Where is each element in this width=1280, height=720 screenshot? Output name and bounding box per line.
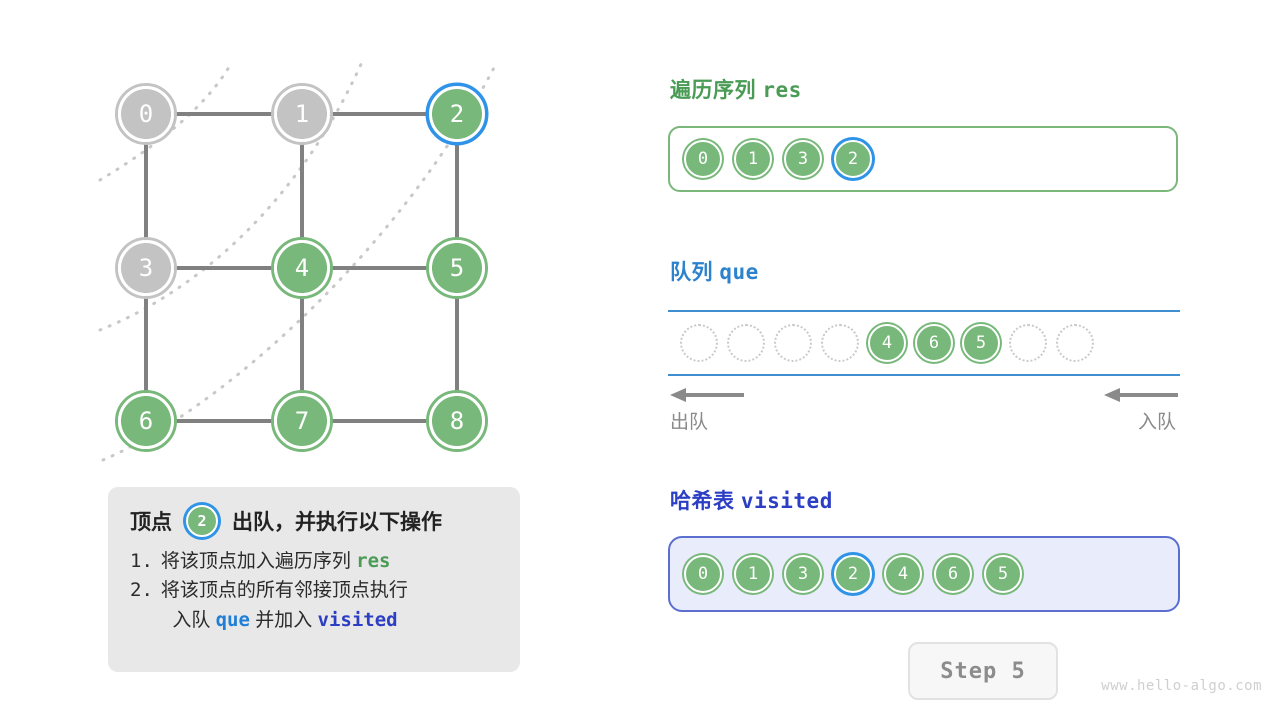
caption-step-text: 将该顶点加入遍历序列	[161, 551, 356, 572]
caption-step-number: 1.	[130, 550, 153, 572]
caption-head-suffix: 出队，并执行以下操作	[232, 506, 442, 536]
graph-node-7[interactable]: 7	[273, 392, 332, 451]
visited-title-cn: 哈希表	[670, 490, 735, 513]
queue-empty-slot	[680, 324, 718, 362]
visited-title-code: visited	[741, 489, 833, 513]
visited-item: 2	[834, 555, 872, 593]
dequeue-label: 出队	[670, 407, 708, 434]
queue-empty-slot	[821, 324, 859, 362]
res-title: 遍历序列 res	[670, 74, 802, 104]
caption-step-number	[130, 609, 164, 631]
caption-step: 入队 que 并加入 visited	[130, 606, 500, 635]
enqueue-label: 入队	[1138, 407, 1176, 434]
graph-node-0[interactable]: 0	[117, 85, 176, 144]
res-item: 1	[734, 140, 772, 178]
res-container: 0132	[668, 126, 1178, 192]
graph-nodes: 012345678	[117, 85, 487, 451]
graph-panel: 012345678	[0, 0, 620, 500]
node-label: 6	[139, 407, 153, 435]
queue-empty-slot	[727, 324, 765, 362]
step-badge: Step 5	[908, 642, 1058, 700]
res-title-cn: 遍历序列	[670, 79, 756, 102]
visited-item: 6	[934, 555, 972, 593]
caption-step: 1.将该顶点加入遍历序列 res	[130, 547, 500, 576]
queue-title-code: que	[719, 260, 758, 284]
queue-item: 5	[962, 324, 1000, 362]
caption-head-prefix: 顶点	[130, 506, 172, 536]
visited-container: 0132465	[668, 536, 1180, 612]
enqueue-arrow-icon	[1102, 385, 1180, 405]
node-label: 3	[139, 254, 153, 282]
graph-node-2[interactable]: 2	[428, 85, 487, 144]
caption-step-list: 1.将该顶点加入遍历序列 res2.将该顶点的所有邻接顶点执行 入队 que 并…	[130, 547, 500, 635]
visited-item: 1	[734, 555, 772, 593]
caption-code-token: res	[356, 550, 390, 572]
node-label: 0	[139, 100, 153, 128]
visited-item: 0	[684, 555, 722, 593]
caption-head: 顶点 2 出队，并执行以下操作	[130, 505, 500, 537]
queue-item: 6	[915, 324, 953, 362]
visited-item: 4	[884, 555, 922, 593]
caption-step-text: 将该顶点的所有邻接顶点执行	[161, 580, 408, 601]
queue-empty-slot	[774, 324, 812, 362]
watermark: www.hello-algo.com	[1101, 678, 1262, 694]
queue-arrow-row: 出队 入队	[668, 385, 1180, 440]
visited-item: 5	[984, 555, 1022, 593]
graph-node-4[interactable]: 4	[273, 239, 332, 298]
node-label: 1	[295, 100, 309, 128]
node-label: 7	[295, 407, 309, 435]
queue-empty-slot	[1056, 324, 1094, 362]
caption-code-token: visited	[318, 609, 398, 631]
dequeue-arrow-icon	[668, 385, 746, 405]
caption-step-number: 2.	[130, 579, 153, 601]
graph-node-3[interactable]: 3	[117, 239, 176, 298]
queue-empty-slot	[1009, 324, 1047, 362]
graph-svg: 012345678	[0, 0, 620, 500]
node-label: 5	[450, 254, 464, 282]
visited-title: 哈希表 visited	[670, 485, 833, 515]
res-title-code: res	[762, 78, 801, 102]
res-item: 2	[834, 140, 872, 178]
node-label: 8	[450, 407, 464, 435]
caption-code-token: que	[216, 609, 250, 631]
queue-container: 465	[668, 310, 1180, 376]
node-label: 4	[295, 254, 309, 282]
caption-step: 2.将该顶点的所有邻接顶点执行	[130, 576, 500, 605]
visited-item: 3	[784, 555, 822, 593]
graph-node-1[interactable]: 1	[273, 85, 332, 144]
res-item: 3	[784, 140, 822, 178]
diagram-canvas: 012345678 遍历序列 res 0132 队列 que 465 出队 入队	[0, 0, 1280, 720]
graph-node-5[interactable]: 5	[428, 239, 487, 298]
queue-item: 4	[868, 324, 906, 362]
caption-node-chip: 2	[186, 505, 218, 537]
graph-node-8[interactable]: 8	[428, 392, 487, 451]
caption-step-text: 并加入	[250, 610, 318, 631]
graph-node-6[interactable]: 6	[117, 392, 176, 451]
res-item: 0	[684, 140, 722, 178]
queue-title: 队列 que	[670, 256, 759, 286]
caption-panel: 顶点 2 出队，并执行以下操作 1.将该顶点加入遍历序列 res2.将该顶点的所…	[108, 487, 520, 672]
queue-title-cn: 队列	[670, 261, 713, 284]
caption-step-text: 入队	[172, 610, 215, 631]
node-label: 2	[450, 100, 464, 128]
